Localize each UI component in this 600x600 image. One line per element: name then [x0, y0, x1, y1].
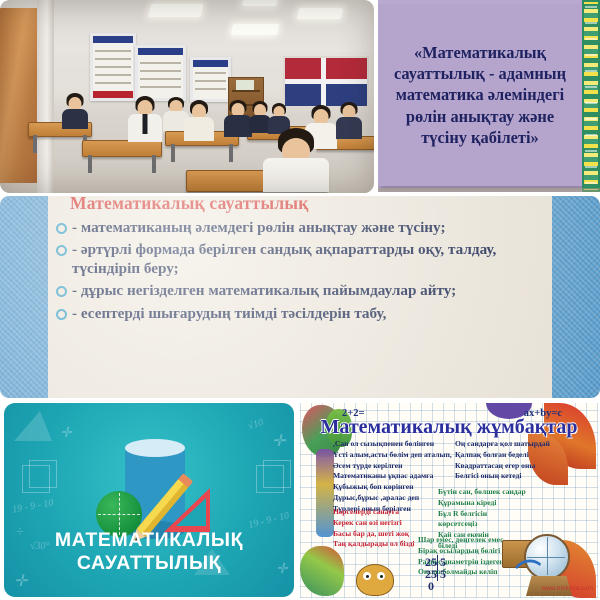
sketch-formula: √10	[247, 417, 265, 432]
title-card: «Математикалық сауаттылық - адамның мате…	[378, 0, 600, 192]
student	[336, 102, 362, 136]
swoosh-decoration: ⌒	[514, 551, 545, 591]
riddle-column-b: Оң сандарға қол шатырдай Қалпақ болған б…	[455, 439, 575, 482]
bullet-circle-icon	[56, 223, 67, 234]
bullet-circle-icon	[56, 245, 67, 256]
riddle-column-a: ,Сан ол сызықпенен бөлінген Үсті алым,ас…	[333, 439, 453, 514]
sketch-symbol: ✛	[60, 425, 72, 442]
wall-board	[190, 57, 231, 102]
content-slide: Математикалық сауаттылық - математиканың…	[0, 196, 600, 398]
ceiling-lamp	[242, 0, 278, 6]
riddle-line: ,Сан ол сызықпенен бөлінген	[333, 439, 453, 450]
watermark: www.tnirkova.com	[542, 585, 594, 592]
uk-poster	[283, 56, 369, 108]
list-item: - дұрыс негізделген математикалық пайымд…	[56, 281, 542, 300]
slide-canvas: «Математикалық сауаттылық - адамның мате…	[0, 0, 600, 600]
student	[128, 96, 162, 144]
ribbon-decoration	[316, 449, 334, 537]
kazakh-ornament-border	[582, 0, 600, 192]
long-division-figure: 255 255 0	[425, 556, 446, 592]
student	[62, 93, 88, 127]
title-text: «Математикалық сауаттылық - адамның мате…	[378, 42, 582, 148]
ceiling-lamp	[297, 8, 343, 19]
title-card-inner: «Математикалық сауаттылық - адамның мате…	[378, 4, 582, 186]
owl-decoration	[356, 564, 394, 596]
student	[224, 100, 252, 134]
sketch-cube-icon	[22, 465, 50, 493]
riddle-line: Әсем түрде керілген	[333, 461, 453, 472]
slide-right-band	[552, 196, 600, 398]
wall-board	[135, 45, 186, 101]
riddle-line: көрсетсеңіз	[438, 519, 548, 530]
student	[263, 128, 329, 186]
list-item: - математиканың әлемдегі рөлін анықтау ж…	[56, 218, 542, 237]
sketch-cone-icon	[14, 411, 52, 441]
riddle-line: Керек сан өзі негізгі	[333, 518, 451, 529]
bullet-text: - әртүрлі формада берілген сандық ақпара…	[72, 240, 542, 278]
ceiling-lamp	[148, 4, 203, 17]
sketch-symbol: ✛	[272, 431, 285, 451]
riddle-line: Белгісі оның кетеді	[455, 471, 575, 482]
teal-card-label: МАТЕМАТИКАЛЫҚ САУАТТЫЛЫҚ	[4, 529, 294, 575]
riddle-line: Оң сандарға қол шатырдай	[455, 439, 575, 450]
bullet-text: - математиканың әлемдегі рөлін анықтау ж…	[72, 218, 446, 237]
title-card-shadow	[378, 188, 600, 192]
math-riddles-poster: 2+2= ax+by=c Математикалық жұмбақтар ,Са…	[300, 403, 598, 598]
bullet-list: - математиканың әлемдегі рөлін анықтау ж…	[56, 218, 542, 326]
riddle-line: Нәрселерді санауға	[333, 507, 451, 518]
student	[184, 100, 214, 138]
slide-left-band	[0, 196, 48, 398]
sketch-cube-icon	[256, 465, 284, 493]
wall-pillar	[37, 0, 54, 193]
riddle-line: Құбыжық боп көрінген	[333, 482, 453, 493]
riddle-line: Үсті алым,асты бөлім деп аталып,	[333, 450, 453, 461]
wooden-cabinet	[0, 8, 39, 183]
riddle-line: Дұрыс,бұрыс ,аралас деп	[333, 493, 453, 504]
slide-heading: Математикалық сауаттылық	[70, 196, 309, 214]
riddle-line: Квадраттасаң егер оны	[455, 461, 575, 472]
poster-title: Математикалық жұмбақтар	[300, 416, 598, 439]
list-item: - есептерді шығарудың тиімді тәсілдерін …	[56, 304, 542, 323]
riddle-line: Қалпақ болған беделі	[455, 450, 575, 461]
bullet-circle-icon	[56, 286, 67, 297]
sketch-formula: 19 - 9 - 10	[247, 510, 290, 531]
wall-board	[90, 33, 136, 101]
bullet-circle-icon	[56, 309, 67, 320]
riddle-line: Бұл R белгісін	[438, 509, 548, 520]
list-item: - әртүрлі формада берілген сандық ақпара…	[56, 240, 542, 278]
riddle-line: Бүтін сан, бөлшек сандар	[438, 487, 548, 498]
ceiling-lamp	[231, 24, 279, 35]
bullet-text: - есептерді шығарудың тиімді тәсілдерін …	[72, 304, 386, 323]
riddle-line: Математиканы ұқпас адамға	[333, 471, 453, 482]
bullet-text: - дұрыс негізделген математикалық пайымд…	[72, 281, 456, 300]
math-literacy-card: 19 - 9 - 10 19 - 9 - 10 √30° √10 ÷ ✛ ✛ ✛…	[4, 403, 294, 597]
sketch-formula: 19 - 9 - 10	[11, 497, 54, 515]
riddle-line: Құрамына кіреді	[438, 498, 548, 509]
classroom-photo	[0, 0, 374, 193]
